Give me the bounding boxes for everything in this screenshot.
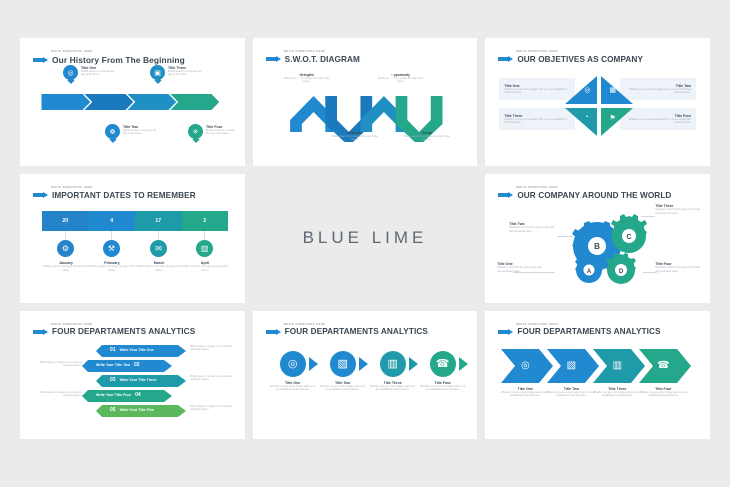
slide-eyebrow: WRITE SOMETHING HERE [51,186,235,189]
circle-item-3[interactable]: ▥ Title Three Whether you are a low budg… [369,351,417,392]
timeline-node-body: Mobile search is no longer the way of th… [81,70,115,77]
objectives-diamond-icon [557,74,641,138]
timeline-node-body: Mobile search is no longer the way of th… [206,129,236,136]
timeline-node-body: Mobile search is no longer the way of th… [123,129,157,136]
chevron-item-2[interactable]: Title Two Whether you are a low budget s… [545,387,597,398]
slide-history[interactable]: WRITE SOMETHING HERE Our History From Th… [20,38,245,166]
chevron-body: Whether you are a low budget start up or… [637,391,689,398]
chart-icon: ▦ [609,86,616,94]
slide-header: WRITE SOMETHING HERE FOUR DEPARTAMENTS A… [33,323,235,337]
swot-caption-body: Mobile search is no longer the way of th… [401,135,453,142]
swot-letter-t: T [431,71,437,82]
ribbon-label: Write Your Title Five [120,408,154,412]
arrow-marker-icon [266,329,281,335]
ribbon-number: 02 [134,362,140,368]
callout-body: Marketers must find the price to the lea… [655,208,703,215]
ribbon-label: Write Your Title One [120,348,154,352]
chevron-body: Whether you are a low budget start up or… [591,391,643,398]
arrow-marker-icon [33,192,48,198]
chevron-body: Whether you are a low budget start up or… [545,391,597,398]
circle-item-4[interactable]: ☎ Title Four Whether you are a low budge… [419,351,467,392]
dates-number-bar: 20 4 17 2 [42,211,228,231]
date-number-4: 2 [182,211,229,231]
slide-chevrons[interactable]: WRITE SOMETHING HERE FOUR DEPARTAMENTS A… [485,311,710,439]
svg-text:C: C [627,234,632,241]
arrow-tail-icon [409,357,418,371]
chevron-item-4[interactable]: Title Four Whether you are a low budget … [637,387,689,398]
circle-body: Whether you are a low budget start up or… [419,385,467,392]
connector-line [65,231,66,240]
connector-line [111,231,112,240]
signal-icon: ▧ [330,351,356,377]
ribbon-label: Write Your Title Two [96,363,130,367]
slide-ribbons[interactable]: WRITE SOMETHING HERE FOUR DEPARTAMENTS A… [20,311,245,439]
target-icon: ◎ [499,351,551,381]
slide-brand[interactable]: BLUE LIME [253,174,478,302]
circle-body: Whether you are a low budget start up or… [369,385,417,392]
date-body: Mobile search is no longer the way of th… [182,265,228,272]
slide-eyebrow: WRITE SOMETHING HERE [284,50,468,53]
callout-connector [641,216,655,217]
circle-body: Whether you are a low budget start up or… [269,385,317,392]
slide-eyebrow: WRITE SOMETHING HERE [51,323,235,326]
ribbon-side-text-3: What makes us unique is our real time re… [190,375,238,382]
bar-chart-icon[interactable]: ▥ [196,240,213,257]
svg-text:A: A [587,269,592,275]
network-icon: ✳ [188,124,203,139]
tools-icon[interactable]: ⚒ [103,240,120,257]
slide-eyebrow: WRITE SOMETHING HERE [284,323,468,326]
location-icon: ⚑ [609,114,615,122]
callout-connector [557,236,573,237]
gear-callout-1: Title One Marketers must find the price … [497,262,545,273]
gear-callout-4: Title Four Marketers must find the price… [655,262,703,273]
callout-body: Marketers must find the price to the lea… [655,266,703,273]
ribbon-label: Write Your Title Three [120,378,157,382]
gear-icon[interactable]: ⚙ [57,240,74,257]
bar-chart-icon: ▥ [591,351,643,381]
slide-circles[interactable]: WRITE SOMETHING HERE FOUR DEPARTAMENTS A… [253,311,478,439]
date-body: Mobile search is no longer the way of th… [43,265,89,272]
chevron-body: Whether you are a low budget start up or… [499,391,551,398]
page-title: FOUR DEPARTAMENTS ANALYTICS [52,327,195,336]
slide-objectives[interactable]: WRITE SOMETHING HERE OUR OBJETIVES AS CO… [485,38,710,166]
ribbon-side-text-2: What makes us unique is our real time re… [34,361,82,368]
chevron-item-3[interactable]: Title Three Whether you are a low budget… [591,387,643,398]
date-number-1: 20 [42,211,89,231]
chat-icon: ◎ [63,65,78,80]
page-title: OUR COMPANY AROUND THE WORLD [517,191,671,200]
slide-header: WRITE SOMETHING HERE Our History From Th… [33,50,235,65]
date-item-4: April Mobile search is no longer the way… [182,261,228,272]
svg-text:D: D [619,269,624,275]
page-title: OUR OBJETIVES AS COMPANY [517,55,643,64]
date-body: Mobile search is no longer the way of th… [136,265,182,272]
slide-eyebrow: WRITE SOMETHING HERE [516,186,700,189]
slide-world[interactable]: WRITE SOMETHING HERE OUR COMPANY AROUND … [485,174,710,302]
target-icon: ◎ [280,351,306,377]
signal-icon: ▧ [545,351,597,381]
timeline-node-4[interactable]: ✳ Title Four Mobile search is no longer … [188,124,236,139]
arrow-marker-icon [33,57,48,63]
timeline-node-1[interactable]: ◎ Title One Mobile search is no longer t… [63,65,115,80]
ribbon-side-text-5: What makes us unique is our real time re… [190,405,238,412]
date-number-2: 4 [89,211,136,231]
connector-line [158,231,159,240]
slide-thumbnail-grid: WRITE SOMETHING HERE Our History From Th… [0,0,730,487]
page-title: IMPORTANT DATES TO REMEMBER [52,191,196,200]
page-title: FOUR DEPARTAMENTS ANALYTICS [285,327,428,336]
slide-header: WRITE SOMETHING HERE IMPORTANT DATES TO … [33,186,235,200]
brand-wordmark: BLUE LIME [253,174,478,302]
slide-eyebrow: WRITE SOMETHING HERE [51,50,235,53]
ribbon-number: 01 [110,347,116,353]
page-title: FOUR DEPARTAMENTS ANALYTICS [517,327,660,336]
swot-letter-w: W [341,71,350,82]
timeline-node-3[interactable]: ▣ Title Three Mobile search is no longer… [150,65,202,80]
ribbon-side-text-4: What makes us unique is our real time re… [34,391,82,398]
target-icon: ◎ [584,86,590,94]
slide-header: WRITE SOMETHING HERE FOUR DEPARTAMENTS A… [498,323,700,337]
circle-body: Whether you are a low budget start up or… [319,385,367,392]
swot-letter-s: S [295,71,302,82]
arrow-tail-icon [359,357,368,371]
timeline-graphic [20,90,245,120]
page-title: S.W.O.T. DIAGRAM [285,55,360,64]
timeline-arrows-icon [20,90,245,120]
support-icon: ☎ [637,351,689,381]
slide-header: WRITE SOMETHING HERE S.W.O.T. DIAGRAM [266,50,468,64]
support-icon: ☎ [430,351,456,377]
chevron-item-1[interactable]: Title One Whether you are a low budget s… [499,387,551,398]
swot-caption-threats: Threats Mobile search is no longer the w… [401,131,453,142]
ribbon-label: Write Your Title Four [96,393,131,397]
arrow-marker-icon [266,56,281,62]
ribbon-row-4[interactable]: Write Your Title Four 04 [90,390,166,401]
arrow-marker-icon [498,329,513,335]
swot-letter-o: O [387,71,395,82]
arrow-tail-icon [459,357,468,371]
slide-header: WRITE SOMETHING HERE OUR OBJETIVES AS CO… [498,50,700,64]
arrow-marker-icon [33,329,48,335]
gear-callout-3: Title Three Marketers must find the pric… [655,204,703,215]
ribbon-number: 04 [135,392,141,398]
swot-caption-weakness: Weakness Mobile search is no longer the … [329,131,381,142]
slide-eyebrow: WRITE SOMETHING HERE [516,50,700,53]
gears-icon: B C A D [563,212,655,284]
ribbon-number: 03 [110,377,116,383]
arrow-marker-icon [498,192,513,198]
timeline-node-body: Mobile search is no longer the way of th… [168,70,202,77]
connector-line [204,231,205,240]
people-icon: ☸ [105,124,120,139]
document-icon: ▣ [150,65,165,80]
pie-icon: ◔ [584,114,588,121]
circle-item-2[interactable]: ▧ Title Two Whether you are a low budget… [319,351,367,392]
date-item-3: March Mobile search is no longer the way… [136,261,182,272]
date-body: Mobile search is no longer the way of th… [89,265,135,272]
ribbon-side-text-1: What makes us unique is our real time re… [190,345,238,352]
gear-callout-2: Title Two Marketers must find the price … [509,222,557,233]
arrow-tail-icon [309,357,318,371]
callout-body: Marketers must find the price to the lea… [509,226,557,233]
arrow-marker-icon [498,56,513,62]
slide-eyebrow: WRITE SOMETHING HERE [516,323,700,326]
slide-header: WRITE SOMETHING HERE OUR COMPANY AROUND … [498,186,700,200]
bar-chart-icon: ▥ [380,351,406,377]
chat-icon[interactable]: ✉ [150,240,167,257]
slide-swot[interactable]: WRITE SOMETHING HERE S.W.O.T. DIAGRAM St… [253,38,478,166]
ribbon-number: 05 [110,407,116,413]
timeline-node-2[interactable]: ☸ Title Two Mobile search is no longer t… [105,124,157,139]
ribbon-row-1[interactable]: 01 Write Your Title One [104,345,180,356]
date-item-1: January Mobile search is no longer the w… [43,261,89,272]
ribbon-row-3[interactable]: 03 Write Your Title Three [104,375,180,386]
slide-header: WRITE SOMETHING HERE FOUR DEPARTAMENTS A… [266,323,468,337]
svg-text:B: B [594,242,600,251]
date-number-3: 17 [135,211,182,231]
date-item-2: February Mobile search is no longer the … [89,261,135,272]
callout-body: Marketers must find the price to the lea… [497,266,545,273]
circle-item-1[interactable]: ◎ Title One Whether you are a low budget… [269,351,317,392]
ribbon-row-5[interactable]: 05 Write Your Title Five [104,405,180,416]
slide-dates[interactable]: WRITE SOMETHING HERE IMPORTANT DATES TO … [20,174,245,302]
page-title: Our History From The Beginning [52,55,185,65]
swot-caption-body: Mobile search is no longer the way of th… [329,135,381,142]
ribbon-row-2[interactable]: Write Your Title Two 02 [90,360,166,371]
